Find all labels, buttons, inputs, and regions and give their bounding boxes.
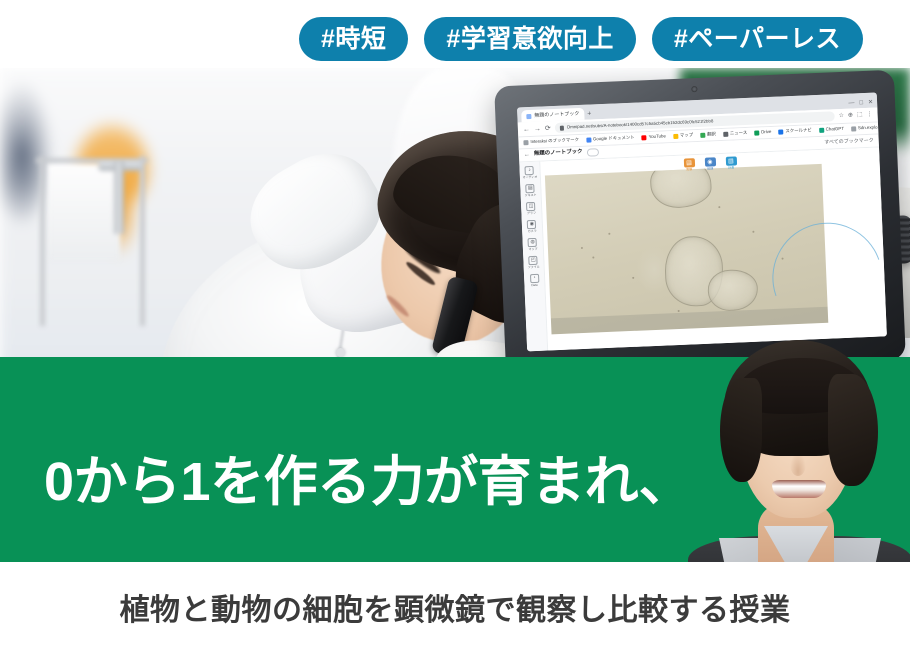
rail-label: グラフ [527, 212, 536, 215]
canvas-toolbar: ▤ 実験 ◉ 記録 ▥ 計測 [683, 156, 736, 171]
hashtag-pill-2[interactable]: #学習意欲向上 [424, 17, 635, 61]
case-study-card: #時短 #学習意欲向上 #ペーパーレス [0, 0, 910, 660]
new-tab-button[interactable]: + [587, 110, 591, 119]
bookmark-item[interactable]: ChatGPT [819, 127, 844, 133]
bookmark-label: スクールナビ [785, 129, 812, 135]
browser-tab-label: 無題のノートブック [534, 111, 579, 118]
menu-icon[interactable]: ⋮ [866, 112, 872, 118]
back-icon[interactable]: ← [523, 126, 530, 133]
tablet-screen: 無題のノートブック + — □ ✕ ← → ⟳ [517, 92, 887, 351]
profile-icon[interactable]: ⬚ [857, 112, 863, 118]
reload-icon[interactable]: ⟳ [545, 125, 551, 132]
bookmark-favicon-icon [642, 135, 647, 140]
rail-label: ファイル [528, 266, 540, 270]
bookmark-favicon-icon [673, 134, 678, 139]
graph-icon: ◫ [526, 202, 535, 211]
data-icon: ◔ [529, 274, 538, 283]
forward-icon[interactable]: → [534, 125, 541, 132]
bookmark-label: 翻訳 [707, 133, 716, 138]
camera-icon [691, 86, 697, 92]
canvas-tool-label: 計測 [728, 167, 734, 170]
lock-icon [560, 125, 564, 130]
bookmark-item[interactable]: ニュース [723, 131, 748, 137]
canvas-tool-record[interactable]: ◉ 記録 [704, 157, 716, 170]
maximize-icon[interactable]: □ [859, 100, 863, 106]
rail-item-data[interactable]: ◔ Data [529, 274, 539, 287]
app-body: ♪ オーディオ ▤ テキスト ◫ グラフ [519, 147, 887, 351]
url-text: Omnipad.net/subs/A-notebook/1400cd57c5a5… [567, 119, 714, 130]
hashtag-pill-1[interactable]: #時短 [299, 17, 408, 61]
cell-shape [707, 268, 759, 311]
bookmark-label: Google ドキュメント [593, 136, 635, 142]
hashtag-pill-3[interactable]: #ペーパーレス [652, 17, 863, 61]
bookmark-item[interactable]: スクールナビ [778, 128, 812, 134]
bookmark-label: マップ [680, 134, 693, 139]
camera-icon: ◉ [527, 220, 536, 229]
record-icon: ◉ [704, 157, 715, 166]
rail-label: マップ [528, 248, 537, 251]
folder-icon [523, 140, 528, 145]
bookmark-folder-label: Interaksi のブックマーク [530, 138, 579, 144]
bookmark-item[interactable]: Drive [754, 130, 771, 136]
rail-item-map[interactable]: ◍ マップ [528, 238, 538, 251]
minimize-icon[interactable]: — [848, 100, 854, 106]
headline-line-1: 0から1を作る力が育まれ、 [44, 452, 684, 513]
bookmark-label: ニュース [730, 131, 748, 136]
bookmark-label: Sdn.explo.radio [858, 125, 887, 131]
tab-favicon-icon [526, 113, 531, 118]
window-controls: — □ ✕ [848, 100, 873, 109]
canvas-tool-experiment[interactable]: ▤ 実験 [683, 158, 695, 171]
close-icon[interactable]: ✕ [868, 100, 873, 106]
bookmark-item[interactable]: 翻訳 [700, 132, 716, 138]
share-chip[interactable] [586, 148, 598, 156]
teacher-portrait [680, 322, 910, 598]
extensions-icon[interactable]: ⊕ [848, 113, 853, 119]
rail-label: オーディオ [522, 176, 537, 180]
bookmark-item[interactable]: Google ドキュメント [586, 136, 635, 143]
bookmark-item[interactable]: YouTube [642, 134, 666, 140]
rail-item-graph[interactable]: ◫ グラフ [526, 202, 536, 215]
file-icon: ◰ [529, 256, 538, 265]
app-back-icon[interactable]: ← [524, 152, 530, 158]
audio-icon: ♪ [525, 166, 534, 175]
all-bookmarks-label[interactable]: すべてのブックマーク [824, 138, 874, 145]
bookmark-favicon-icon [754, 130, 759, 135]
bookmark-favicon-icon [851, 126, 856, 131]
rail-item-text[interactable]: ▤ テキスト [524, 184, 536, 197]
bookmark-star-icon[interactable]: ☆ [838, 113, 844, 119]
browser-actions: ☆ ⊕ ⬚ ⋮ [838, 112, 872, 119]
rail-label: Data [531, 284, 537, 287]
bookmark-item[interactable]: マップ [673, 133, 693, 139]
map-icon: ◍ [528, 238, 537, 247]
bookmark-favicon-icon [723, 132, 728, 137]
teacher-smile [772, 480, 826, 498]
rail-item-camera[interactable]: ◉ カメラ [527, 220, 537, 233]
bookmark-favicon-icon [700, 133, 705, 138]
canvas-tool-label: 記録 [707, 167, 713, 170]
bookmark-folder[interactable]: Interaksi のブックマーク [523, 138, 579, 145]
app-header-right: すべてのブックマーク [824, 138, 874, 145]
rail-item-file[interactable]: ◰ ファイル [527, 256, 540, 269]
text-icon: ▤ [526, 184, 535, 193]
canvas-tool-measure[interactable]: ▥ 計測 [725, 156, 737, 169]
experiment-icon: ▤ [683, 158, 694, 167]
notebook-title: 無題のノートブック [534, 150, 583, 157]
rail-item-audio[interactable]: ♪ オーディオ [522, 166, 537, 180]
bookmark-label: ChatGPT [826, 127, 844, 132]
bookmark-item[interactable]: Sdn.explo.radio [851, 125, 887, 132]
caption-bar [0, 562, 910, 660]
notebook-canvas: ▤ 実験 ◉ 記録 ▥ 計測 [540, 147, 887, 350]
bookmark-favicon-icon [819, 128, 824, 133]
rail-label: カメラ [528, 230, 537, 233]
canvas-tool-label: 実験 [686, 168, 692, 171]
measure-icon: ▥ [725, 156, 736, 165]
hashtag-pill-row: #時短 #学習意欲向上 #ペーパーレス [0, 16, 910, 62]
bookmark-favicon-icon [586, 137, 591, 142]
bookmark-favicon-icon [778, 129, 783, 134]
bookmark-label: Drive [761, 130, 771, 135]
bookmark-label: YouTube [649, 135, 666, 140]
rail-label: テキスト [525, 194, 537, 197]
